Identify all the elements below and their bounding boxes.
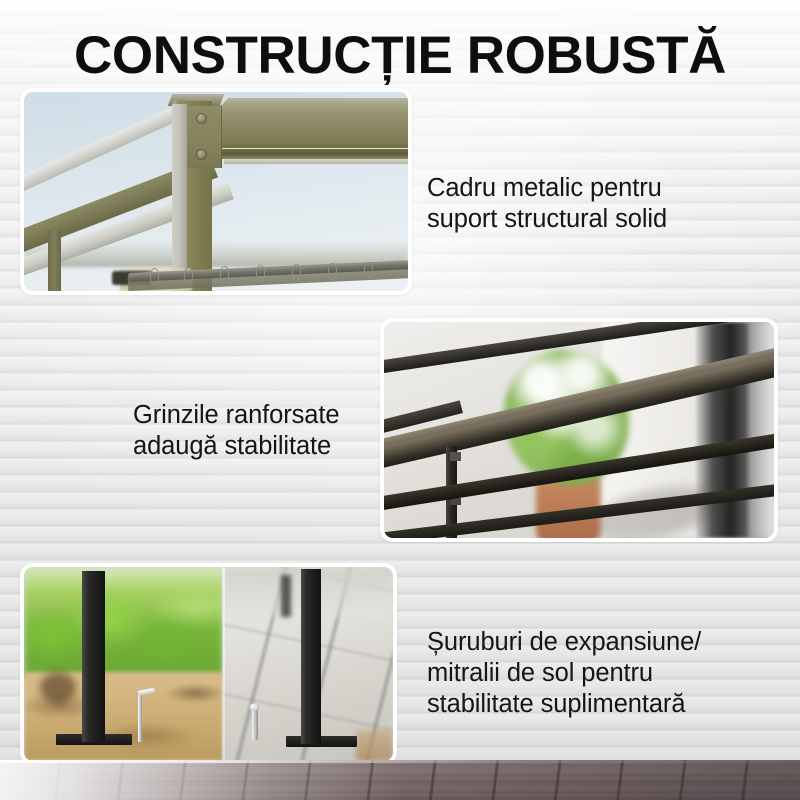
soil-anchor-half xyxy=(24,567,223,761)
distant-post xyxy=(281,575,291,618)
caption-line: stabilitate suplimentară xyxy=(427,689,747,720)
caption-line: Șuruburi de expansiune/ xyxy=(427,627,747,658)
black-support-post xyxy=(301,569,321,744)
feature-caption-expansion-bolts: Șuruburi de expansiune/ mitralii de sol … xyxy=(427,627,747,720)
caption-line: mitralii de sol pentru xyxy=(427,658,747,689)
bolt-icon xyxy=(197,114,206,123)
curtain-ring-icon xyxy=(256,265,265,282)
floor-wall-joint xyxy=(0,760,800,763)
curtain-ring-icon xyxy=(328,263,337,280)
ground-anchor-stake xyxy=(138,693,142,742)
product-feature-infographic: CONSTRUCȚIE ROBUSTĂ xyxy=(0,0,800,800)
inner-beam-highlight xyxy=(224,159,412,164)
curtain-ring-icon xyxy=(150,268,159,285)
top-olive-beam xyxy=(220,105,412,148)
feature-caption-reinforced-beams: Grinzile ranforsate adaugă stabilitate xyxy=(133,400,393,462)
feature-image-expansion-bolts xyxy=(20,563,397,765)
curtain-ring-icon xyxy=(220,266,229,283)
paving-bolt-half xyxy=(223,567,393,761)
feature-image-metal-frame xyxy=(20,88,412,295)
expansion-bolt xyxy=(252,709,258,740)
caption-line: adaugă stabilitate xyxy=(133,431,393,462)
caption-line: Cadru metalic pentru xyxy=(427,173,727,204)
split-image-divider xyxy=(222,567,225,761)
caption-line: suport structural solid xyxy=(427,204,727,235)
curtain-ring-icon xyxy=(184,267,193,284)
wood-floor xyxy=(0,760,800,800)
expansion-bolts-photo-content xyxy=(24,567,393,761)
inner-beam xyxy=(220,149,412,159)
soil-dark-patch xyxy=(40,672,76,703)
post-light-side xyxy=(172,104,187,295)
black-support-post xyxy=(82,571,105,742)
blurred-grass xyxy=(24,567,223,678)
curtain-ring-icon xyxy=(292,264,301,281)
beam-bracket xyxy=(450,452,461,461)
reinforced-beams-photo-content xyxy=(384,322,774,538)
paving-dirt-edge xyxy=(356,730,393,761)
feature-caption-metal-frame: Cadru metalic pentru suport structural s… xyxy=(427,173,727,235)
bolt-icon xyxy=(197,150,206,159)
expansion-bolt-head xyxy=(250,704,259,711)
metal-frame-photo-content xyxy=(24,92,408,291)
post-base-plate xyxy=(286,736,357,747)
feature-image-reinforced-beams xyxy=(380,318,778,542)
page-title: CONSTRUCȚIE ROBUSTĂ xyxy=(0,27,800,85)
caption-line: Grinzile ranforsate xyxy=(133,400,393,431)
curtain-ring-icon xyxy=(364,262,373,279)
far-olive-post xyxy=(48,230,61,295)
